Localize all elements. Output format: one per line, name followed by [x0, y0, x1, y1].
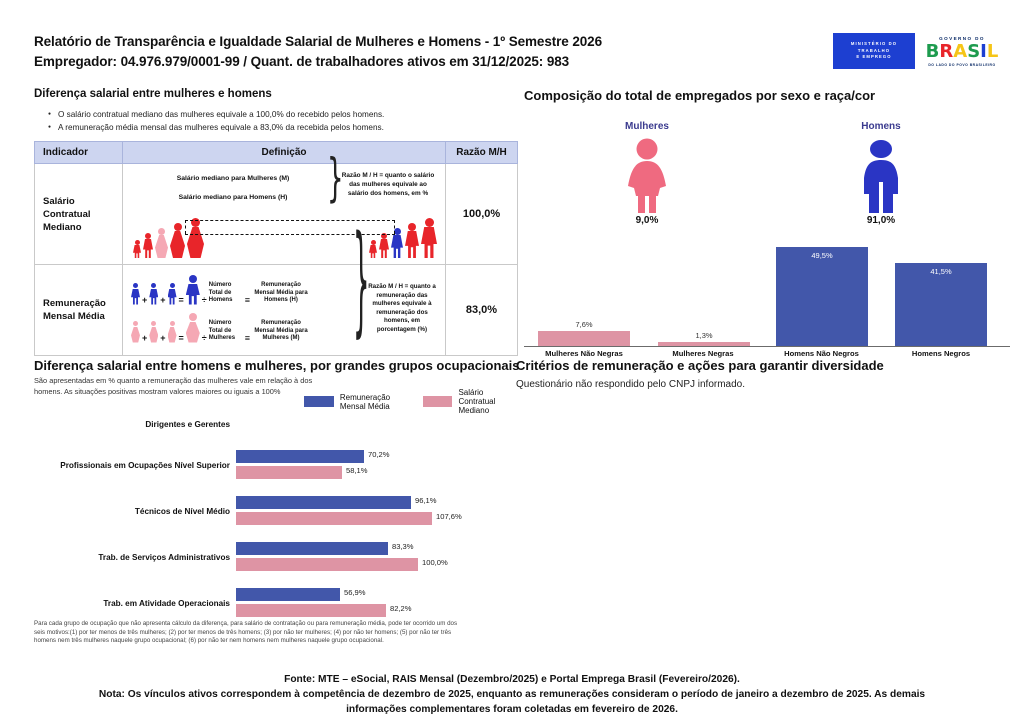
indicator-label-median-salary: Salário Contratual Mediano: [35, 164, 123, 265]
plus-sign: +: [160, 295, 165, 305]
legend-label: Remuneração Mensal Média: [340, 393, 406, 411]
occ-row-tecnicos: Técnicos de Nível Médio 96,1% 107,6%: [34, 496, 520, 542]
column-header-indicator: Indicador: [35, 142, 123, 164]
legend-item-remuneracao: Remuneração Mensal Média: [304, 393, 406, 411]
bar-value: 58,1%: [346, 466, 368, 475]
report-header: Relatório de Transparência e Igualdade S…: [34, 32, 734, 72]
occupational-groups-section: Diferença salarial entre homens e mulher…: [34, 358, 520, 397]
race-composition-chart: 7,6% 1,3% 49,5% 41,5%: [524, 243, 1010, 347]
person-icon: [149, 283, 158, 305]
occ-bars-group: 56,9% 82,2%: [236, 588, 520, 620]
equals-sign: ≡: [245, 333, 250, 343]
brasil-letter-b: B: [926, 43, 940, 61]
definition-cell-avg-remuneration: + + = ÷ Número Total de Homens ≡ Remuner…: [123, 265, 446, 356]
bar-value: 82,2%: [390, 604, 412, 613]
bar-value: 100,0%: [422, 558, 448, 567]
person-icon: [187, 218, 204, 259]
brasil-letter-s: S: [967, 43, 980, 61]
men-count-label: Número Total de Homens: [209, 282, 243, 305]
plus-sign: +: [142, 295, 147, 305]
column-header-ratio: Razão M/H: [446, 142, 518, 164]
legend-item-salario: Salário Contratual Mediano: [423, 388, 520, 415]
equals-sign: =: [179, 295, 184, 305]
median-line-right-cap: [394, 220, 395, 234]
plus-sign: +: [142, 333, 147, 343]
bar-salario: 100,0%: [236, 558, 418, 571]
person-icon: [421, 218, 437, 259]
footer-note-line1: Nota: Os vínculos ativos correspondem à …: [0, 687, 1024, 702]
gov-logo-wordmark: BRASIL: [926, 42, 999, 61]
person-icon: [170, 223, 185, 259]
pictogram-women-group: [133, 218, 204, 259]
occ-category-label: Dirigentes e Gerentes: [34, 420, 230, 429]
person-icon: [369, 240, 377, 259]
formula-women: + + = ÷ Número Total de Mulheres ≡ Remun…: [131, 313, 310, 343]
man-icon: [858, 138, 904, 214]
section-title-composition: Composição do total de empregados por se…: [524, 88, 1010, 103]
bar-remuneracao: 70,2%: [236, 450, 364, 463]
axis-label: Homens Negros: [881, 347, 1001, 358]
occ-category-label: Trab. de Serviços Administrativos: [34, 553, 230, 562]
list-item: A remuneração média mensal das mulheres …: [48, 121, 518, 134]
occupational-footnote: Para cada grupo de ocupação que não apre…: [34, 620, 464, 646]
bar-value: 83,3%: [392, 542, 414, 551]
men-pictogram-block: Homens 91,0%: [836, 121, 926, 226]
person-icon: [149, 321, 158, 343]
men-result-label: Remuneração Mensal Média para Homens (H): [252, 282, 310, 305]
bar-value: 96,1%: [415, 496, 437, 505]
gender-pictogram-row: Mulheres 9,0% Homens 91,0%: [524, 121, 1010, 241]
table-row: Salário Contratual Mediano Salário media…: [35, 164, 518, 265]
occ-category-label: Técnicos de Nível Médio: [34, 507, 230, 516]
page-title: Relatório de Transparência e Igualdade S…: [34, 32, 734, 52]
section-title-occupational: Diferença salarial entre homens e mulher…: [34, 358, 520, 373]
bar-homens-negros: 41,5%: [895, 263, 987, 346]
definition-cell-median-salary: Salário mediano para Mulheres (M) Salári…: [123, 164, 446, 265]
occupational-legend: Remuneração Mensal Média Salário Contrat…: [304, 388, 520, 415]
person-icon: [168, 321, 177, 343]
axis-label: Mulheres Negras: [644, 347, 762, 358]
section-title-criteria: Critérios de remuneração e ações para ga…: [516, 358, 1008, 373]
bar-value: 1,3%: [658, 331, 750, 340]
occ-row-profissionais: Profissionais em Ocupações Nível Superio…: [34, 450, 520, 496]
occ-bars-group: 70,2% 58,1%: [236, 450, 520, 482]
bar-remuneracao: 56,9%: [236, 588, 340, 601]
salary-difference-section: Diferença salarial entre mulheres e home…: [34, 88, 518, 356]
brasil-letter-i: I: [980, 43, 987, 61]
pictogram-men-group: [369, 218, 437, 259]
logo-group: MINISTÉRIO DO TRABALHO E EMPREGO GOVERNO…: [832, 32, 1002, 70]
women-count-label: Número Total de Mulheres: [209, 320, 243, 343]
report-footer: Fonte: MTE – eSocial, RAIS Mensal (Dezem…: [0, 672, 1024, 717]
divide-sign: ÷: [202, 295, 207, 305]
column-header-definition: Definição: [123, 142, 446, 164]
criteria-section: Critérios de remuneração e ações para ga…: [516, 358, 1008, 390]
bar-salario: 82,2%: [236, 604, 386, 617]
axis-label: Homens Não Negros: [762, 347, 881, 358]
indicator-table: Indicador Definição Razão M/H Salário Co…: [34, 141, 518, 356]
person-icon: [133, 240, 141, 259]
bar-remuneracao: 83,3%: [236, 542, 388, 555]
bar-mulheres-negras: 1,3%: [658, 342, 750, 346]
indicator-label-avg-remuneration: Remuneração Mensal Média: [35, 265, 123, 356]
table-row: Remuneração Mensal Média + + =: [35, 265, 518, 356]
person-icon: [168, 283, 177, 305]
median-line-left-cap: [185, 220, 186, 234]
ratio-value-median-salary: 100,0%: [446, 164, 518, 265]
def-line-women-median: Salário mediano para Mulheres (M): [143, 172, 323, 186]
gov-logo-slogan: DO LADO DO POVO BRASILEIRO: [928, 63, 995, 67]
salary-bullet-list: O salário contratual mediano das mulhere…: [48, 108, 518, 134]
formula-men: + + = ÷ Número Total de Homens ≡ Remuner…: [131, 275, 310, 305]
women-label: Mulheres: [602, 121, 692, 132]
bar-remuneracao: 96,1%: [236, 496, 411, 509]
list-item: O salário contratual mediano das mulhere…: [48, 108, 518, 121]
bar-value: 107,6%: [436, 512, 462, 521]
person-icon: [155, 228, 168, 259]
race-composition-axis-labels: Mulheres Não Negras Mulheres Negras Home…: [524, 347, 1010, 358]
occ-category-label: Trab. em Atividade Operacionais: [34, 599, 230, 608]
ministry-logo: MINISTÉRIO DO TRABALHO E EMPREGO: [832, 32, 916, 70]
bar-mulheres-nao-negras: 7,6%: [538, 331, 630, 346]
occ-bars-group: 83,3% 100,0%: [236, 542, 520, 574]
legend-swatch-pink: [423, 396, 452, 407]
gov-brasil-logo: GOVERNO DO BRASIL DO LADO DO POVO BRASIL…: [922, 32, 1002, 70]
divide-sign: ÷: [202, 333, 207, 343]
person-icon: [186, 275, 200, 305]
def-line-men-median: Salário mediano para Homens (H): [143, 191, 323, 205]
person-icon: [391, 228, 403, 259]
plus-sign: +: [160, 333, 165, 343]
men-percentage: 91,0%: [836, 215, 926, 226]
gov-logo-top: GOVERNO DO: [939, 36, 985, 41]
footer-source: Fonte: MTE – eSocial, RAIS Mensal (Dezem…: [0, 672, 1024, 687]
person-icon: [379, 233, 389, 259]
person-icon: [405, 223, 419, 259]
report-page: Relatório de Transparência e Igualdade S…: [0, 0, 1024, 724]
employer-line: Empregador: 04.976.979/0001-99 / Quant. …: [34, 52, 734, 72]
occ-row-dirigentes: Dirigentes e Gerentes: [34, 420, 520, 450]
ministry-logo-line3: E EMPREGO: [856, 54, 891, 60]
occ-bars-group: 96,1% 107,6%: [236, 496, 520, 528]
criteria-body: Questionário não respondido pelo CNPJ in…: [516, 379, 1008, 390]
bar-value: 70,2%: [368, 450, 390, 459]
axis-label: Mulheres Não Negras: [524, 347, 644, 358]
women-result-label: Remuneração Mensal Média para Mulheres (…: [252, 320, 310, 343]
equals-sign: =: [179, 333, 184, 343]
legend-swatch-blue: [304, 396, 334, 407]
section-title-salary-difference: Diferença salarial entre mulheres e home…: [34, 88, 518, 100]
occupational-bar-chart: Dirigentes e Gerentes Profissionais em O…: [34, 420, 520, 634]
footer-note-line2: informações complementares foram coletad…: [0, 702, 1024, 717]
def-note-median: Razão M / H = quanto o salário das mulhe…: [339, 171, 437, 198]
woman-icon: [624, 138, 670, 214]
equals-sign: ≡: [245, 295, 250, 305]
occ-row-administrativos: Trab. de Serviços Administrativos 83,3% …: [34, 542, 520, 588]
person-icon: [131, 283, 140, 305]
bar-value: 49,5%: [776, 251, 868, 260]
bar-salario: 58,1%: [236, 466, 342, 479]
women-pictogram-block: Mulheres 9,0%: [602, 121, 692, 226]
bar-value: 41,5%: [895, 267, 987, 276]
legend-label: Salário Contratual Mediano: [458, 388, 520, 415]
composition-section: Composição do total de empregados por se…: [524, 88, 1010, 358]
person-icon: [131, 321, 140, 343]
person-icon: [186, 313, 200, 343]
occ-category-label: Profissionais em Ocupações Nível Superio…: [34, 461, 230, 470]
person-icon: [143, 233, 153, 259]
brasil-letter-r: R: [939, 43, 953, 61]
bar-value: 56,9%: [344, 588, 366, 597]
women-percentage: 9,0%: [602, 215, 692, 226]
occupational-subtitle: São apresentadas em % quanto a remuneraç…: [34, 376, 334, 397]
bar-salario: 107,6%: [236, 512, 432, 525]
brasil-letter-l: L: [987, 43, 998, 61]
table-header-row: Indicador Definição Razão M/H: [35, 142, 518, 164]
bar-homens-nao-negros: 49,5%: [776, 247, 868, 346]
ratio-value-avg-remuneration: 83,0%: [446, 265, 518, 356]
men-label: Homens: [836, 121, 926, 132]
def-note-avg-remuneration: Razão M / H = quanto a remuneração das m…: [365, 283, 439, 335]
brasil-letter-a: A: [953, 43, 967, 61]
bar-value: 7,6%: [538, 320, 630, 329]
